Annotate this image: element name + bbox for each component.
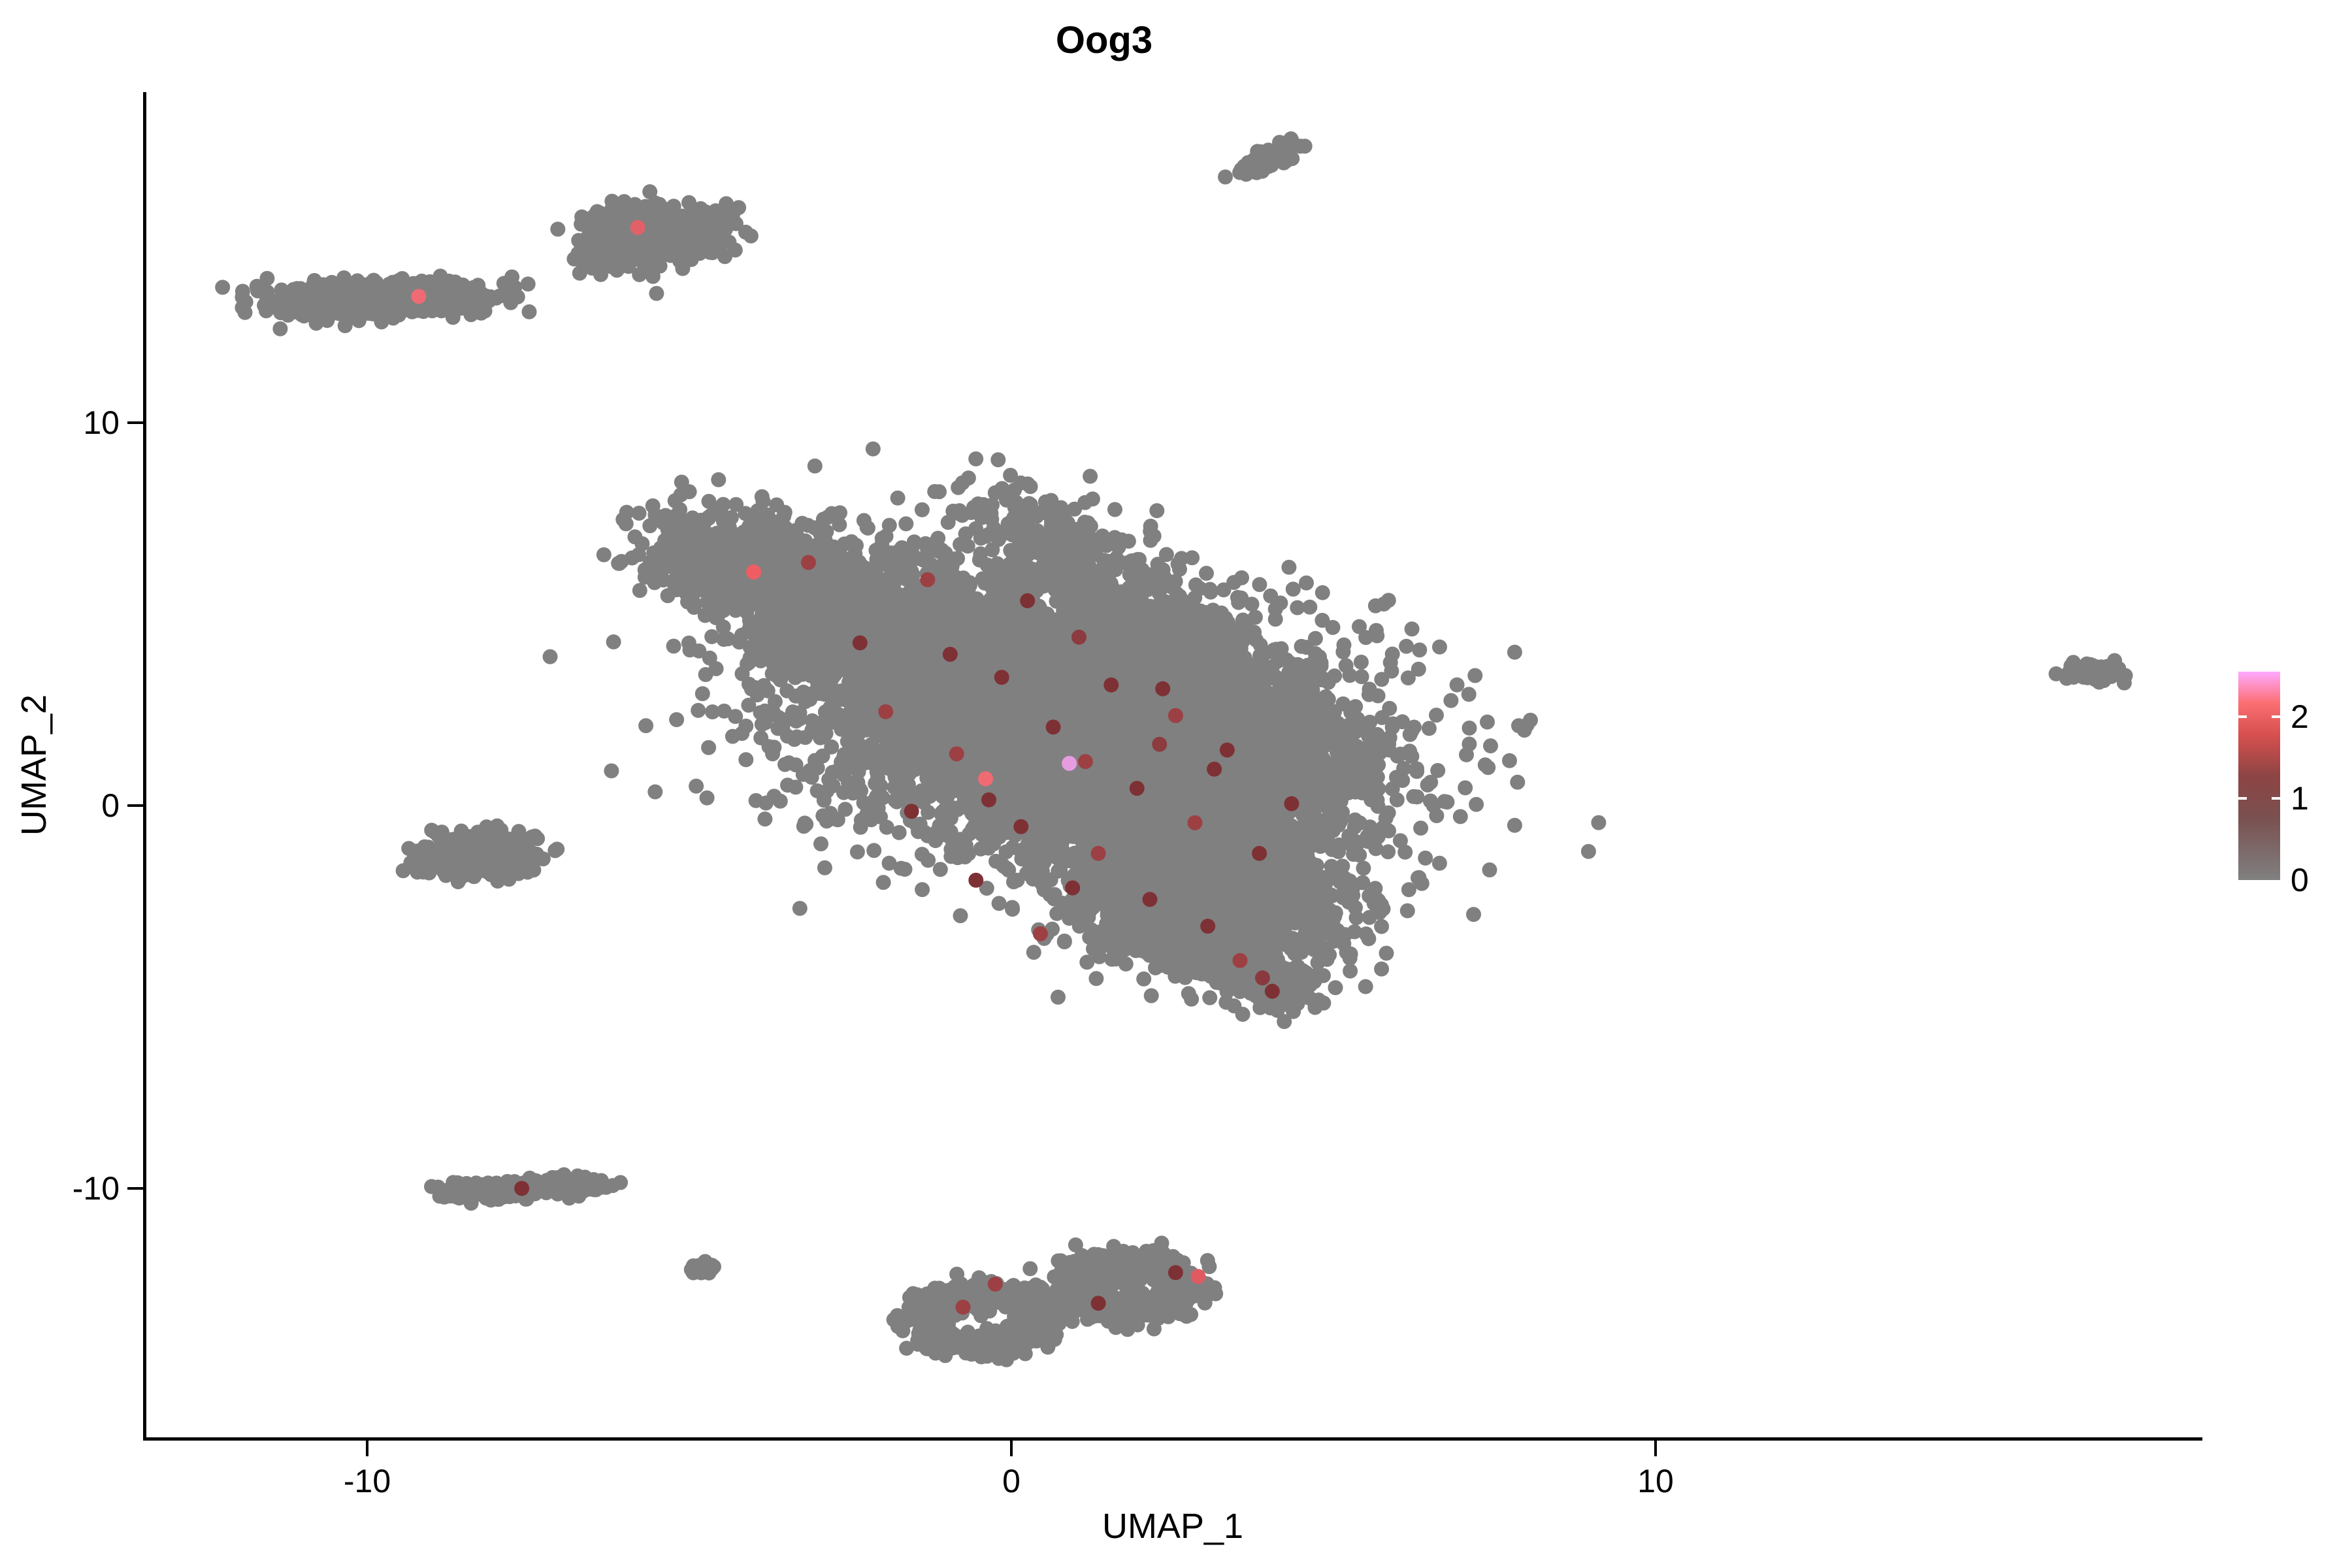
page-title: Oog3 bbox=[0, 18, 2208, 62]
legend-colorbar bbox=[2238, 672, 2280, 880]
x-axis-line bbox=[143, 1437, 2202, 1441]
x-tick-mark bbox=[1010, 1441, 1013, 1456]
color-legend: 210 bbox=[2238, 672, 2343, 887]
legend-tick-label: 1 bbox=[2291, 779, 2309, 817]
y-tick-label: 0 bbox=[101, 787, 120, 825]
x-tick-label: 0 bbox=[1002, 1462, 1021, 1500]
plot-panel bbox=[144, 92, 2202, 1439]
x-tick-label: 10 bbox=[1637, 1462, 1674, 1500]
y-tick-mark bbox=[127, 1187, 143, 1190]
legend-tick-label: 0 bbox=[2291, 861, 2309, 899]
x-tick-mark bbox=[366, 1441, 368, 1456]
legend-tick-mark bbox=[2238, 715, 2280, 718]
y-axis-label-text: UMAP_2 bbox=[14, 694, 54, 836]
umap-feature-plot: Oog3 -10010 100-10 UMAP_1 UMAP_2 210 bbox=[0, 0, 2352, 1568]
scatter-points bbox=[144, 92, 2202, 1439]
y-tick-label: 10 bbox=[83, 404, 120, 442]
x-tick-mark bbox=[1654, 1441, 1657, 1456]
legend-tick-label: 2 bbox=[2291, 698, 2309, 736]
y-axis-line bbox=[143, 92, 146, 1441]
y-tick-label: -10 bbox=[73, 1169, 120, 1207]
legend-tick-mark bbox=[2238, 797, 2280, 800]
x-axis-label: UMAP_1 bbox=[143, 1506, 2202, 1546]
x-tick-label: -10 bbox=[344, 1462, 391, 1500]
y-tick-mark bbox=[127, 804, 143, 807]
y-tick-mark bbox=[127, 421, 143, 424]
